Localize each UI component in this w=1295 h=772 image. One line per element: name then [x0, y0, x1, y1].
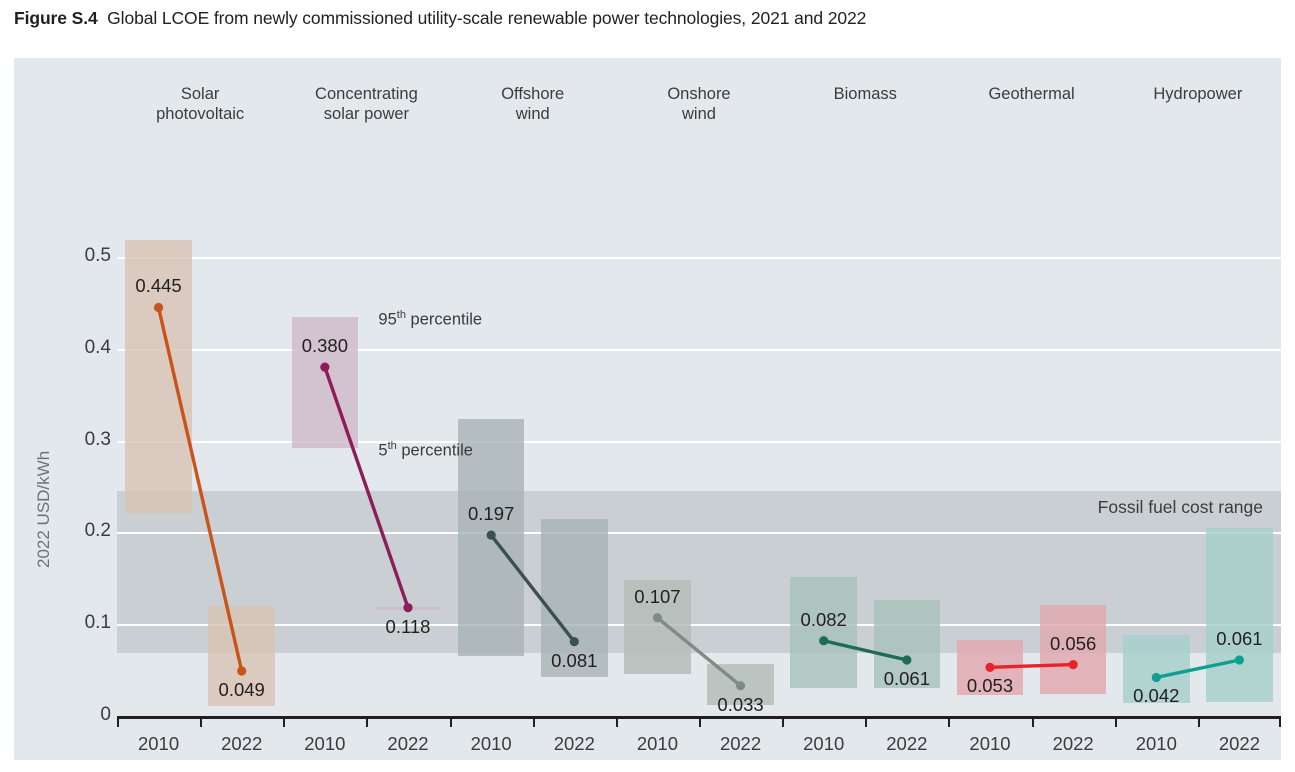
data-point: [902, 655, 911, 664]
p5-annotation: 5th percentile: [378, 440, 473, 461]
x-axis-tick-label: 2010: [782, 733, 866, 755]
series-line: [657, 618, 740, 686]
data-point: [736, 681, 745, 690]
data-point: [487, 531, 496, 540]
x-axis-tick: [1279, 719, 1281, 727]
data-point-value-label: 0.197: [439, 503, 543, 525]
x-axis-tick: [865, 719, 867, 727]
x-axis-tick: [782, 719, 784, 727]
data-point-value-label: 0.053: [938, 675, 1042, 697]
data-point: [1069, 660, 1078, 669]
data-point: [570, 637, 579, 646]
data-point: [653, 613, 662, 622]
data-point-value-label: 0.380: [273, 335, 377, 357]
data-point: [403, 603, 412, 612]
series-line: [491, 535, 574, 641]
data-point-value-label: 0.049: [190, 679, 294, 701]
x-axis-tick-label: 2022: [699, 733, 783, 755]
x-axis-tick: [366, 719, 368, 727]
chart-plot-area: Fossil fuel cost range 00.10.20.30.40.5 …: [14, 58, 1281, 760]
x-axis-tick-label: 2010: [948, 733, 1032, 755]
x-axis-tick-label: 2022: [1031, 733, 1115, 755]
data-point: [1152, 673, 1161, 682]
series-line: [990, 665, 1073, 668]
data-point: [819, 636, 828, 645]
data-point-value-label: 0.056: [1021, 633, 1125, 655]
data-point-value-label: 0.082: [772, 609, 876, 631]
data-point-value-label: 0.445: [107, 275, 211, 297]
x-axis-tick-label: 2010: [1114, 733, 1198, 755]
x-axis-tick-label: 2022: [865, 733, 949, 755]
x-axis-tick: [1032, 719, 1034, 727]
data-point-value-label: 0.061: [1187, 628, 1291, 650]
p95-annotation: 95th percentile: [378, 309, 482, 330]
series-line: [159, 307, 242, 671]
x-axis-tick-label: 2010: [283, 733, 367, 755]
x-axis-tick-label: 2010: [615, 733, 699, 755]
x-axis-tick: [699, 719, 701, 727]
data-point: [985, 663, 994, 672]
figure-number: Figure S.4: [14, 8, 98, 28]
x-axis-tick: [200, 719, 202, 727]
x-axis-tick: [616, 719, 618, 727]
data-point: [154, 303, 163, 312]
data-point: [1235, 655, 1244, 664]
series-line: [824, 641, 907, 660]
x-axis-tick: [533, 719, 535, 727]
data-point-value-label: 0.081: [522, 650, 626, 672]
series-lines-layer: [14, 58, 1281, 760]
figure-caption: Global LCOE from newly commissioned util…: [107, 8, 866, 28]
figure-title: Figure S.4 Global LCOE from newly commis…: [14, 8, 866, 29]
data-point: [237, 666, 246, 675]
x-axis-tick-label: 2010: [449, 733, 533, 755]
data-point-value-label: 0.042: [1104, 685, 1208, 707]
x-axis-tick-label: 2010: [117, 733, 201, 755]
data-point-value-label: 0.118: [356, 616, 460, 638]
x-axis-tick: [948, 719, 950, 727]
x-axis-tick-label: 2022: [1197, 733, 1281, 755]
data-point-value-label: 0.107: [605, 586, 709, 608]
x-axis-tick: [283, 719, 285, 727]
x-axis-tick-label: 2022: [532, 733, 616, 755]
x-axis-tick: [117, 719, 119, 727]
series-line: [1156, 660, 1239, 677]
x-axis-tick-label: 2022: [366, 733, 450, 755]
x-axis-tick: [1198, 719, 1200, 727]
series-line: [325, 367, 408, 608]
x-axis-tick-label: 2022: [200, 733, 284, 755]
data-point: [320, 363, 329, 372]
data-point-value-label: 0.033: [689, 694, 793, 716]
x-axis-tick: [450, 719, 452, 727]
x-axis-tick: [1115, 719, 1117, 727]
